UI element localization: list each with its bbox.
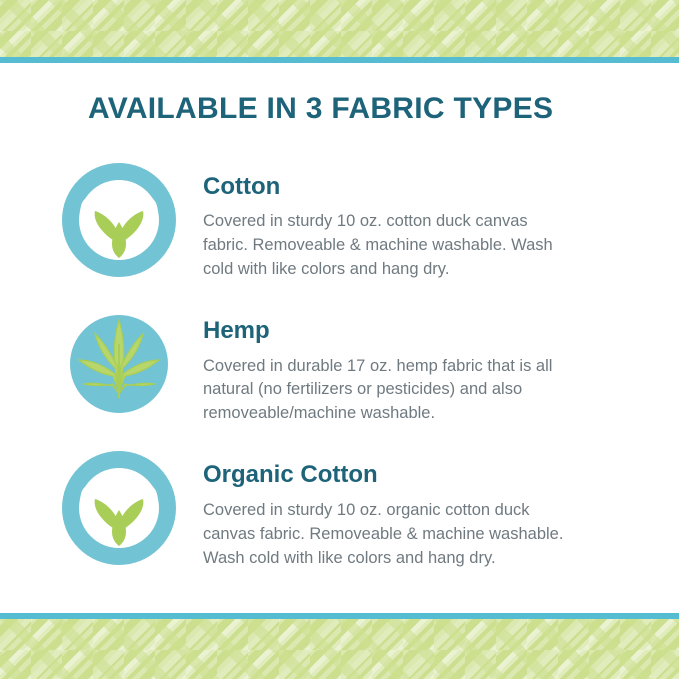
fabric-row-hemp: Hemp Covered in durable 17 oz. hemp fabr… [0,304,679,426]
fabric-row-cotton: Cotton Covered in sturdy 10 oz. cotton d… [0,160,679,282]
bottom-pattern-dashes [0,619,679,679]
fabric-text-hemp: Hemp Covered in durable 17 oz. hemp fabr… [203,304,575,426]
fabric-description: Covered in durable 17 oz. hemp fabric th… [203,355,575,427]
fabric-text-cotton: Cotton Covered in sturdy 10 oz. cotton d… [203,160,575,282]
fabric-title: Hemp [203,318,575,344]
fabric-row-organic-cotton: Organic Cotton Covered in sturdy 10 oz. … [0,448,679,570]
top-pattern-dashes [0,0,679,57]
fabric-title: Cotton [203,174,575,200]
fabric-text-organic-cotton: Organic Cotton Covered in sturdy 10 oz. … [203,448,575,570]
fabric-description: Covered in sturdy 10 oz. cotton duck can… [203,210,575,282]
bottom-pattern-band [0,619,679,679]
hemp-leaf-icon [59,304,179,424]
fabric-list: Cotton Covered in sturdy 10 oz. cotton d… [0,160,679,592]
top-pattern-band [0,0,679,57]
cotton-boll-icon [59,160,179,280]
fabric-description: Covered in sturdy 10 oz. organic cotton … [203,499,575,571]
fabric-types-infographic: AVAILABLE IN 3 FABRIC TYPES Cotton Cover… [0,0,679,679]
organic-cotton-boll-icon [59,448,179,568]
fabric-title: Organic Cotton [203,462,575,488]
top-teal-divider [0,57,679,63]
page-title: AVAILABLE IN 3 FABRIC TYPES [88,92,553,126]
